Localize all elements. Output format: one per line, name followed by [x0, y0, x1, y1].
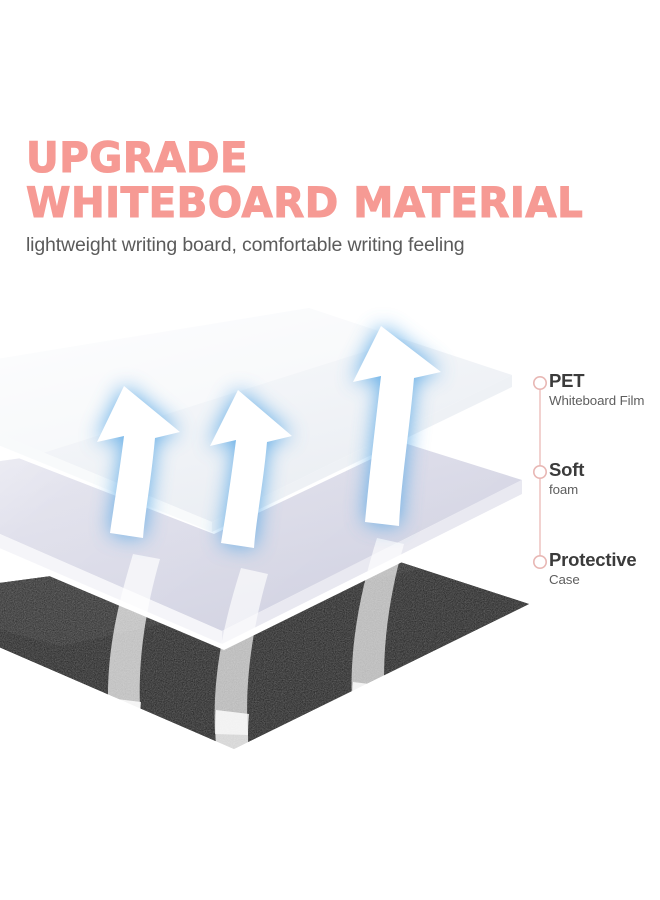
- callout-soft-subtitle: foam: [549, 482, 584, 497]
- callout-pet-subtitle: Whiteboard Film: [549, 393, 644, 408]
- callout-soft: Soft foam: [549, 461, 584, 497]
- heading-block: UPGRADE WHITEBOARD MATERIAL lightweight …: [26, 138, 636, 257]
- title-line-2: WHITEBOARD MATERIAL: [26, 183, 612, 222]
- infographic-canvas: UPGRADE WHITEBOARD MATERIAL lightweight …: [0, 0, 660, 900]
- exploded-layers-illustration: [0, 286, 660, 786]
- callout-pet: PET Whiteboard Film: [549, 372, 644, 408]
- title-line-1: UPGRADE: [26, 138, 612, 177]
- callout-pet-title: PET: [549, 372, 644, 391]
- callout-protective-subtitle: Case: [549, 572, 636, 587]
- subtitle: lightweight writing board, comfortable w…: [26, 234, 636, 257]
- callout-protective: Protective Case: [549, 551, 636, 587]
- callout-soft-title: Soft: [549, 461, 584, 480]
- callout-protective-title: Protective: [549, 551, 636, 570]
